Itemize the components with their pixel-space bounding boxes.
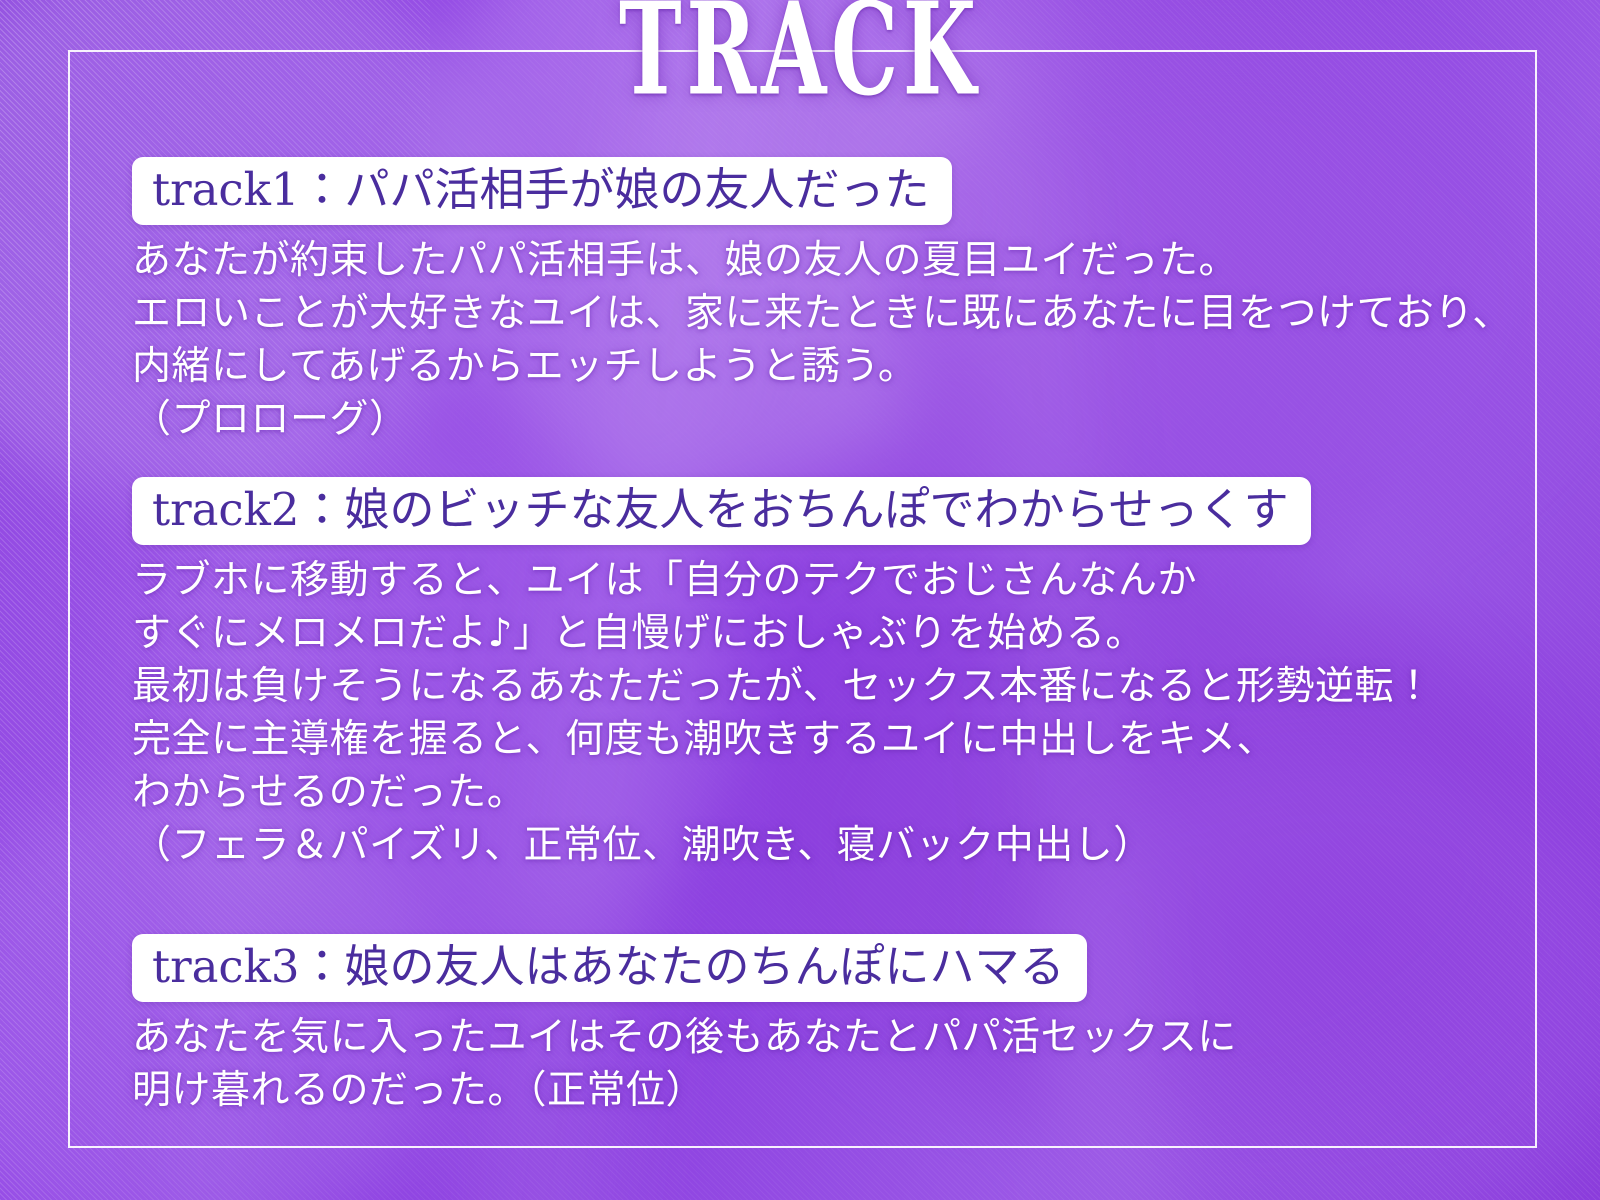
track-header-2: track2：娘のビッチな友人をおちんぽでわからせっくす	[132, 477, 1311, 545]
page-title-container: TRACK	[0, 0, 1600, 94]
track-header-label-2: track2：娘のビッチな友人をおちんぽでわからせっくす	[152, 486, 1289, 534]
page-title: TRACK	[619, 0, 981, 113]
track-section-1: track1：パパ活相手が娘の友人だった あなたが約束したパパ活相手は、娘の友人…	[132, 157, 1532, 446]
track-description-3: あなたを気に入ったユイはその後もあなたとパパ活セックスに 明け暮れるのだった。（…	[132, 1011, 1532, 1117]
track-section-2: track2：娘のビッチな友人をおちんぽでわからせっくす ラブホに移動すると、ユ…	[132, 477, 1532, 872]
track-header-1: track1：パパ活相手が娘の友人だった	[132, 157, 952, 225]
track-header-3: track3：娘の友人はあなたのちんぽにハマる	[132, 934, 1087, 1002]
track-list-page: TRACK track1：パパ活相手が娘の友人だった あなたが約束したパパ活相手…	[0, 0, 1600, 1200]
track-header-label-3: track3：娘の友人はあなたのちんぽにハマる	[152, 943, 1065, 991]
track-description-2: ラブホに移動すると、ユイは「自分のテクでおじさんなんか すぐにメロメロだよ♪」と…	[132, 554, 1532, 872]
track-header-label-1: track1：パパ活相手が娘の友人だった	[152, 166, 930, 214]
track-section-3: track3：娘の友人はあなたのちんぽにハマる あなたを気に入ったユイはその後も…	[132, 934, 1532, 1117]
track-description-1: あなたが約束したパパ活相手は、娘の友人の夏目ユイだった。 エロいことが大好きなユ…	[132, 234, 1532, 446]
